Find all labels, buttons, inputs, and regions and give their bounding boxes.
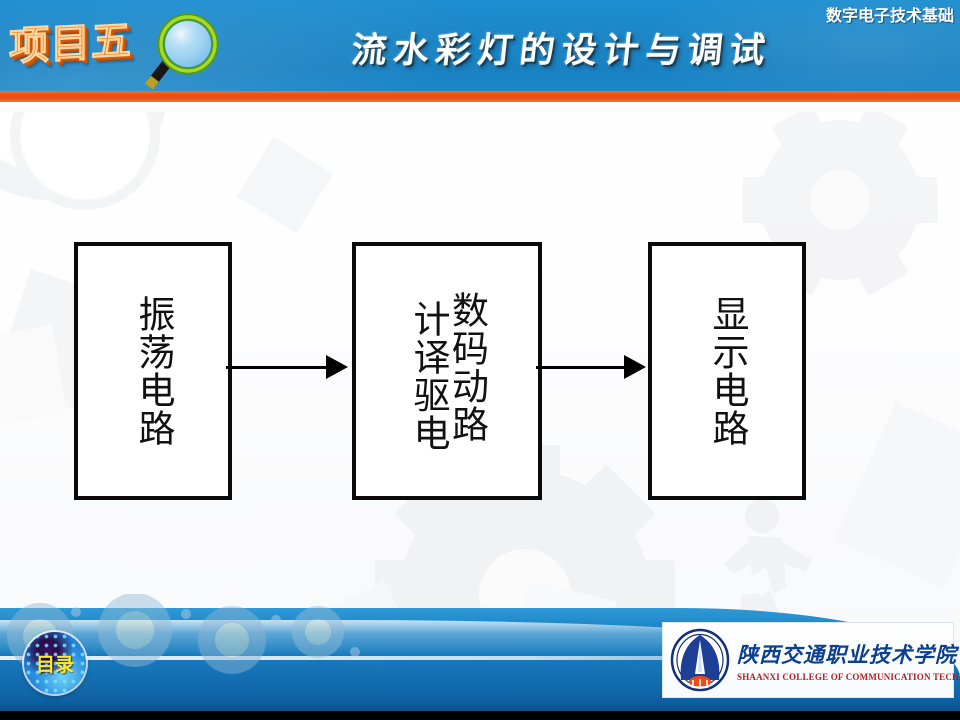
slide-root: 项目五 xyxy=(0,0,960,720)
toc-button-label: 目录 xyxy=(36,650,74,677)
school-logo-text: 陕西交通职业技术学院 SHAANXI COLLEGE OF COMMUNICAT… xyxy=(737,639,960,682)
diagram-box-display: 显示电路 xyxy=(648,242,806,500)
school-name-cn: 陕西交通职业技术学院 xyxy=(737,639,960,669)
header-underline-white xyxy=(0,102,960,112)
slide-title: 流水彩灯的设计与调试 xyxy=(262,16,862,78)
diagram-box-count-decode-drive: 数码动路 计译驱电 xyxy=(352,242,542,500)
diagram-arrow-1 xyxy=(226,355,350,379)
block-diagram: 振荡电路 数码动路 计译驱电 显示电路 图5-1 流水彩灯控制电路框图 xyxy=(0,112,960,592)
school-logo: 陕西交通职业技术学院 SHAANXI COLLEGE OF COMMUNICAT… xyxy=(662,622,954,698)
diagram-arrow-2 xyxy=(536,355,648,379)
diagram-box-oscillator-label: 振荡电路 xyxy=(134,295,172,447)
project-badge-label: 项目五 xyxy=(8,21,133,68)
diagram-box-column-right: 数码动路 xyxy=(447,291,485,443)
toc-button[interactable]: 目录 xyxy=(24,632,86,694)
slide-header: 项目五 xyxy=(0,0,960,91)
diagram-box-count-decode-drive-label: 数码动路 计译驱电 xyxy=(409,291,486,452)
project-badge: 项目五 xyxy=(8,6,133,82)
school-logo-emblem-icon xyxy=(669,628,731,692)
slide-title-text: 流水彩灯的设计与调试 xyxy=(349,22,774,73)
slide-footer: 目录 陕西交通职业技术学院 SHAANXI COLLEGE OF COMMUNI… xyxy=(0,590,960,720)
header-accent-bar xyxy=(0,91,960,102)
diagram-box-column-left: 计译驱电 xyxy=(409,300,447,452)
magnifier-icon xyxy=(138,14,222,91)
course-subject-label: 数字电子技术基础 xyxy=(826,2,954,26)
diagram-box-display-label: 显示电路 xyxy=(708,295,746,447)
footer-black-edge xyxy=(0,711,960,720)
school-name-en: SHAANXI COLLEGE OF COMMUNICATION TECHNOL… xyxy=(737,672,960,682)
diagram-box-oscillator: 振荡电路 xyxy=(74,242,232,500)
